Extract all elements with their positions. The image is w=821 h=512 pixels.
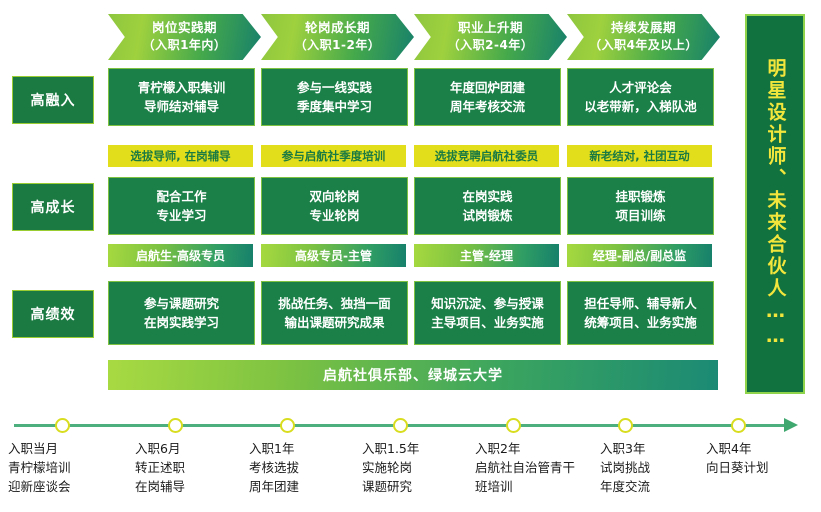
cell-line-1: 青柠檬入职集训 — [138, 78, 226, 97]
cell-line-2: 统筹项目、业务实施 — [584, 313, 697, 332]
stage-chevron-3[interactable]: 职业上升期 （入职2-4年） — [414, 14, 567, 60]
vertical-banner[interactable]: 明星设计师、未来合伙人…… — [745, 14, 805, 394]
cell-integration-4[interactable]: 人才评论会 以老带新，入梯队池 — [567, 68, 714, 126]
cell-line-1: 挑战任务、独挡一面 — [278, 294, 391, 313]
timeline-label-line-3: 在岗辅导 — [135, 478, 245, 497]
strip-integration-2[interactable]: 参与启航社季度培训 — [261, 145, 406, 167]
cell-line-2: 专业轮岗 — [309, 206, 359, 225]
timeline-label-line-2: 转正述职 — [135, 459, 245, 478]
cell-line-2: 试岗锻炼 — [462, 206, 512, 225]
timeline-label-2: 入职6月 转正述职 在岗辅导 — [135, 440, 245, 496]
stage-chevron-2[interactable]: 轮岗成长期 （入职1-2年） — [261, 14, 414, 60]
timeline-label-line-2: 试岗挑战 — [600, 459, 710, 478]
timeline-label-line-3: 班培训 — [475, 478, 600, 497]
timeline: 入职当月 青柠檬培训 迎新座谈会 入职6月 转正述职 在岗辅导 入职1年 考核选… — [0, 408, 821, 512]
timeline-label-5: 入职2年 启航社自治管青干 班培训 — [475, 440, 600, 496]
cell-growth-4[interactable]: 挂职锻炼 项目训练 — [567, 177, 714, 235]
cell-line-1: 年度回炉团建 — [450, 78, 525, 97]
timeline-dot-5[interactable] — [506, 418, 521, 433]
bottom-band[interactable]: 启航社俱乐部、绿城云大学 — [108, 360, 718, 390]
stage-title: 轮岗成长期 — [305, 19, 370, 37]
cell-line-2: 周年考核交流 — [450, 97, 525, 116]
cell-integration-2[interactable]: 参与一线实践 季度集中学习 — [261, 68, 408, 126]
timeline-label-line-2: 向日葵计划 — [706, 459, 816, 478]
cell-integration-1[interactable]: 青柠檬入职集训 导师结对辅导 — [108, 68, 255, 126]
strip-integration-1[interactable]: 选拔导师, 在岗辅导 — [108, 145, 253, 167]
timeline-dot-6[interactable] — [618, 418, 633, 433]
cell-line-2: 季度集中学习 — [297, 97, 372, 116]
timeline-label-line-1: 入职1年 — [249, 440, 359, 459]
timeline-label-line-1: 入职6月 — [135, 440, 245, 459]
timeline-label-4: 入职1.5年 实施轮岗 课题研究 — [362, 440, 472, 496]
cell-line-2: 在岗实践学习 — [144, 313, 219, 332]
stage-subtitle: （入职2-4年） — [448, 37, 534, 54]
row-label-performance: 高绩效 — [12, 290, 94, 338]
cell-line-1: 在岗实践 — [462, 187, 512, 206]
strip-integration-3[interactable]: 选拔竞聘启航社委员 — [414, 145, 559, 167]
timeline-dot-2[interactable] — [168, 418, 183, 433]
timeline-arrow-icon — [784, 418, 798, 432]
cell-integration-3[interactable]: 年度回炉团建 周年考核交流 — [414, 68, 561, 126]
cell-line-2: 主导项目、业务实施 — [431, 313, 544, 332]
cell-performance-2[interactable]: 挑战任务、独挡一面 输出课题研究成果 — [261, 281, 408, 345]
timeline-label-line-3: 周年团建 — [249, 478, 359, 497]
vertical-banner-text: 明星设计师、未来合伙人…… — [765, 58, 786, 350]
timeline-label-line-1: 入职当月 — [8, 440, 118, 459]
cell-line-2: 导师结对辅导 — [144, 97, 219, 116]
rank-strip-4[interactable]: 经理-副总/副总监 — [567, 244, 712, 267]
cell-line-1: 知识沉淀、参与授课 — [431, 294, 544, 313]
cell-line-2: 以老带新，入梯队池 — [584, 97, 697, 116]
stage-chevron-4[interactable]: 持续发展期 （入职4年及以上） — [567, 14, 720, 60]
timeline-label-line-2: 青柠檬培训 — [8, 459, 118, 478]
timeline-dot-1[interactable] — [55, 418, 70, 433]
timeline-label-line-2: 考核选拔 — [249, 459, 359, 478]
cell-growth-1[interactable]: 配合工作 专业学习 — [108, 177, 255, 235]
stage-subtitle: （入职4年及以上） — [589, 37, 698, 54]
cell-performance-1[interactable]: 参与课题研究 在岗实践学习 — [108, 281, 255, 345]
timeline-label-line-1: 入职3年 — [600, 440, 710, 459]
stage-subtitle: （入职1年内） — [143, 37, 227, 54]
cell-line-1: 参与一线实践 — [297, 78, 372, 97]
row-label-growth: 高成长 — [12, 183, 94, 231]
timeline-dot-4[interactable] — [393, 418, 408, 433]
cell-line-2: 输出课题研究成果 — [284, 313, 384, 332]
timeline-label-line-1: 入职1.5年 — [362, 440, 472, 459]
timeline-label-3: 入职1年 考核选拔 周年团建 — [249, 440, 359, 496]
cell-growth-2[interactable]: 双向轮岗 专业轮岗 — [261, 177, 408, 235]
rank-strip-1[interactable]: 启航生-高级专员 — [108, 244, 253, 267]
stage-header-row: 岗位实践期 （入职1年内） 轮岗成长期 （入职1-2年） 职业上升期 （入职2-… — [108, 14, 718, 60]
cell-performance-3[interactable]: 知识沉淀、参与授课 主导项目、业务实施 — [414, 281, 561, 345]
stage-subtitle: （入职1-2年） — [295, 37, 381, 54]
timeline-label-line-3: 迎新座谈会 — [8, 478, 118, 497]
timeline-label-line-2: 启航社自治管青干 — [475, 459, 600, 478]
rank-strip-2[interactable]: 高级专员-主管 — [261, 244, 406, 267]
cell-line-1: 挂职锻炼 — [615, 187, 665, 206]
rank-strip-3[interactable]: 主管-经理 — [414, 244, 559, 267]
stage-title: 职业上升期 — [458, 19, 523, 37]
cell-line-2: 专业学习 — [156, 206, 206, 225]
cell-line-2: 项目训练 — [615, 206, 665, 225]
stage-title: 岗位实践期 — [152, 19, 217, 37]
timeline-label-line-1: 入职2年 — [475, 440, 600, 459]
cell-line-1: 担任导师、辅导新人 — [584, 294, 697, 313]
timeline-label-line-3: 课题研究 — [362, 478, 472, 497]
cell-line-1: 配合工作 — [156, 187, 206, 206]
cell-performance-4[interactable]: 担任导师、辅导新人 统筹项目、业务实施 — [567, 281, 714, 345]
cell-growth-3[interactable]: 在岗实践 试岗锻炼 — [414, 177, 561, 235]
timeline-label-line-3: 年度交流 — [600, 478, 710, 497]
timeline-label-line-1: 入职4年 — [706, 440, 816, 459]
cell-line-1: 参与课题研究 — [144, 294, 219, 313]
timeline-dot-7[interactable] — [731, 418, 746, 433]
timeline-dot-3[interactable] — [280, 418, 295, 433]
row-label-integration: 高融入 — [12, 76, 94, 124]
timeline-label-line-2: 实施轮岗 — [362, 459, 472, 478]
stage-title: 持续发展期 — [611, 19, 676, 37]
stage-chevron-1[interactable]: 岗位实践期 （入职1年内） — [108, 14, 261, 60]
cell-line-1: 人才评论会 — [609, 78, 672, 97]
timeline-label-1: 入职当月 青柠檬培训 迎新座谈会 — [8, 440, 118, 496]
timeline-label-7: 入职4年 向日葵计划 — [706, 440, 816, 478]
roadmap-diagram: 岗位实践期 （入职1年内） 轮岗成长期 （入职1-2年） 职业上升期 （入职2-… — [0, 0, 821, 512]
timeline-label-6: 入职3年 试岗挑战 年度交流 — [600, 440, 710, 496]
strip-integration-4[interactable]: 新老结对, 社团互动 — [567, 145, 712, 167]
cell-line-1: 双向轮岗 — [309, 187, 359, 206]
